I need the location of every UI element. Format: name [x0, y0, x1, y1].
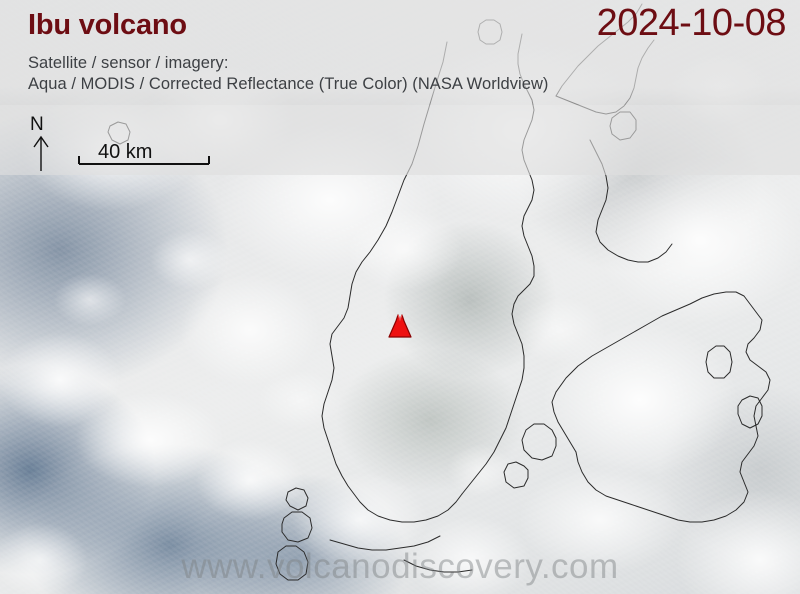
volcano-icon[interactable]	[387, 312, 413, 340]
north-arrow-icon	[29, 133, 53, 173]
imagery-credit-label: Satellite / sensor / imagery:	[28, 54, 228, 73]
coastline-mid-right-arm	[590, 140, 672, 262]
coastline-islet-topright	[610, 112, 636, 140]
coastline-islet-right-b	[738, 396, 762, 428]
coastline-islet-lobe-b	[504, 462, 528, 488]
observation-date: 2024-10-08	[597, 2, 786, 45]
coastline-islet-bottomleft-a	[282, 512, 312, 542]
coastline-bottom-fragment-a	[330, 536, 440, 550]
coastline-halmahera-east	[462, 34, 534, 494]
coastline-islet-north	[478, 20, 502, 44]
coastline-islet-bottomleft-c	[286, 488, 308, 510]
coastline-halmahera-west	[322, 42, 462, 522]
satellite-map-screenshot: Ibu volcano 2024-10-08 Satellite / senso…	[0, 0, 800, 594]
coastline-islet-bottomleft-b	[276, 546, 308, 580]
scale-bar-icon	[76, 152, 216, 172]
page-title: Ibu volcano	[28, 9, 187, 42]
coastline-bottom-fragment-b	[404, 560, 472, 572]
coastline-islet-lobe-a	[522, 424, 556, 460]
imagery-credit-value: Aqua / MODIS / Corrected Reflectance (Tr…	[28, 75, 548, 94]
coastline-ne-peninsula-inner	[556, 40, 654, 114]
coastline-islet-right-a	[706, 346, 732, 378]
